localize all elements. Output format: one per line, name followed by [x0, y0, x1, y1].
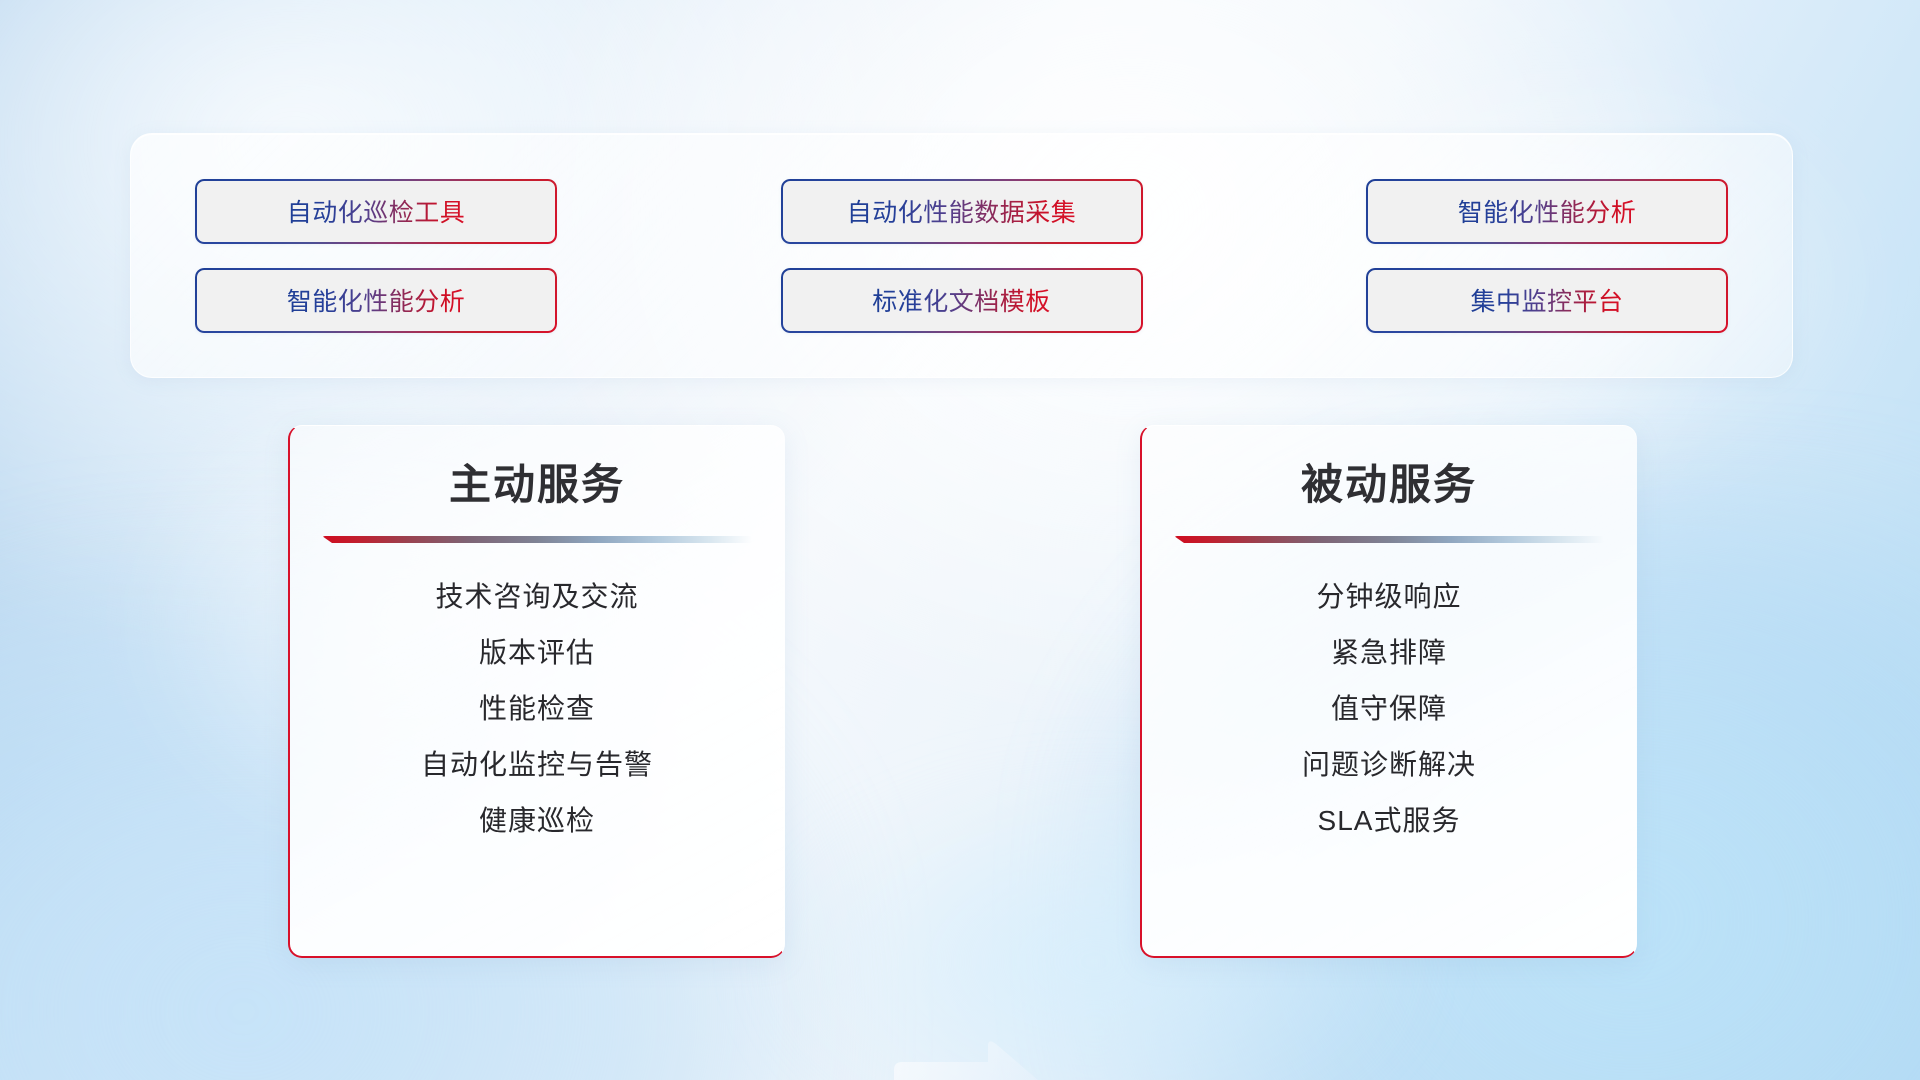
card-title-divider [322, 536, 752, 543]
card-active-service[interactable]: 主动服务 技术咨询及交流 版本评估 性能检查 自动化监控与告警 健康巡检 [288, 425, 785, 958]
card-title: 被动服务 [1301, 464, 1477, 506]
list-item: 值守保障 [1331, 691, 1447, 726]
chip-label: 智能化性能分析 [1458, 193, 1637, 229]
chip-automated-performance-data-collection[interactable]: 自动化性能数据采集 [781, 179, 1143, 244]
capability-chip-panel: 自动化巡检工具 自动化性能数据采集 智能化性能分析 智能化性能分析 标准化文档模… [130, 133, 1793, 378]
card-title-divider [1174, 536, 1604, 543]
list-item: 紧急排障 [1331, 635, 1447, 670]
chip-label: 自动化巡检工具 [287, 193, 466, 229]
chip-label: 集中监控平台 [1470, 282, 1623, 318]
chip-label: 智能化性能分析 [287, 282, 466, 318]
list-item: 版本评估 [479, 635, 595, 670]
card-passive-service[interactable]: 被动服务 分钟级响应 紧急排障 值守保障 问题诊断解决 SLA式服务 [1140, 425, 1637, 958]
flow-arrow-right-icon [884, 1038, 1052, 1080]
slide-stage: 自动化巡检工具 自动化性能数据采集 智能化性能分析 智能化性能分析 标准化文档模… [0, 0, 1920, 1080]
chip-row-2: 智能化性能分析 标准化文档模板 集中监控平台 [195, 268, 1728, 333]
card-title: 主动服务 [449, 464, 625, 506]
chip-label: 标准化文档模板 [872, 282, 1051, 318]
card-item-list: 分钟级响应 紧急排障 值守保障 问题诊断解决 SLA式服务 [1142, 579, 1636, 838]
chip-centralized-monitoring-platform[interactable]: 集中监控平台 [1366, 268, 1728, 333]
chip-standardized-document-template[interactable]: 标准化文档模板 [781, 268, 1143, 333]
list-item: 技术咨询及交流 [435, 579, 638, 614]
card-item-list: 技术咨询及交流 版本评估 性能检查 自动化监控与告警 健康巡检 [290, 579, 784, 838]
list-item: 分钟级响应 [1316, 579, 1461, 614]
chip-automated-inspection-tool[interactable]: 自动化巡检工具 [195, 179, 557, 244]
chip-row-1: 自动化巡检工具 自动化性能数据采集 智能化性能分析 [195, 179, 1728, 244]
chip-intelligent-performance-analysis-bottom[interactable]: 智能化性能分析 [195, 268, 557, 333]
chip-intelligent-performance-analysis-top[interactable]: 智能化性能分析 [1366, 179, 1728, 244]
list-item: SLA式服务 [1318, 803, 1461, 838]
list-item: 自动化监控与告警 [421, 747, 653, 782]
list-item: 健康巡检 [479, 803, 595, 838]
service-cards-row: 主动服务 技术咨询及交流 版本评估 性能检查 自动化监控与告警 健康巡检 [0, 425, 1920, 965]
list-item: 问题诊断解决 [1302, 747, 1476, 782]
list-item: 性能检查 [479, 691, 595, 726]
chip-label: 自动化性能数据采集 [847, 193, 1077, 229]
